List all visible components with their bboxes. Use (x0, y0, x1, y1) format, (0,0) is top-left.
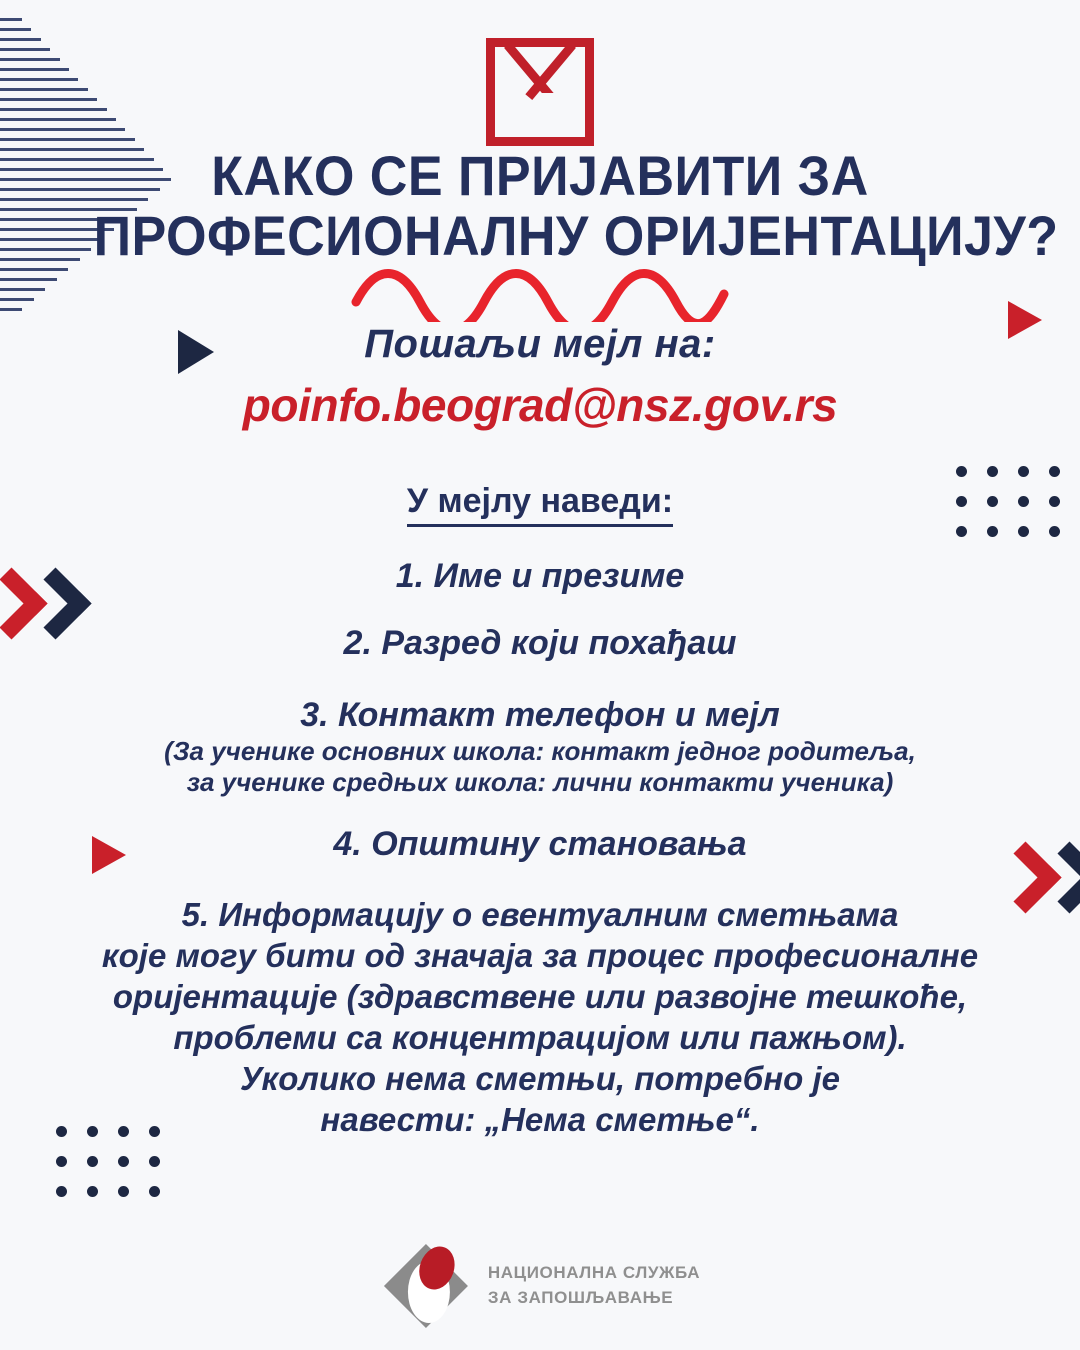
list-item-2: 2. Разред који похађаш (40, 623, 1040, 664)
envelope-icon-wrapper (0, 38, 1080, 124)
send-mail-prompt: Пошаљи мејл на: (0, 322, 1080, 367)
dot (56, 1126, 67, 1137)
nsz-logo-mark (380, 1240, 472, 1332)
list-item-5-line-5: Уколико нема сметњи, потребно је (40, 1059, 1040, 1100)
dot (956, 526, 967, 537)
list-item-3: 3. Контакт телефон и мејл (За ученике ос… (40, 695, 1040, 798)
title-line-2: ПРОФЕСИОНАЛНУ ОРИЈЕНТАЦИЈУ? (94, 206, 987, 266)
list-item-5-line-6: навести: „Нема сметње“. (40, 1100, 1040, 1141)
list-item-4-text: 4. Општину становања (40, 824, 1040, 865)
navy-play-triangle-icon (178, 330, 214, 374)
dot (1018, 526, 1029, 537)
stripe-line (0, 268, 68, 271)
nsz-logo-text: НАЦИОНАЛНА СЛУЖБА ЗА ЗАПОШЉАВАЊЕ (488, 1261, 700, 1310)
list-heading: У мејлу наведи: (0, 482, 1080, 521)
dot (87, 1156, 98, 1167)
stripe-line (0, 258, 80, 261)
red-play-triangle-icon-left (92, 836, 126, 874)
stripe-line (0, 18, 22, 21)
dot (56, 1156, 67, 1167)
list-item-4: 4. Општину становања (40, 824, 1040, 865)
dot (118, 1126, 129, 1137)
list-item-5-line-2: које могу бити од значаја за процес проф… (40, 936, 1040, 977)
list-item-5-line-3: оријентације (здравствене или развојне т… (40, 977, 1040, 1018)
dot (1018, 466, 1029, 477)
dot (149, 1126, 160, 1137)
dot (118, 1156, 129, 1167)
list-item-5-line-4: проблеми са концентрацијом или пажњом). (40, 1018, 1040, 1059)
dot (87, 1186, 98, 1197)
poster-root: КАКО СЕ ПРИЈАВИТИ ЗА ПРОФЕСИОНАЛНУ ОРИЈЕ… (0, 0, 1080, 1350)
red-wavy-underline (350, 268, 730, 322)
email-address[interactable]: poinfo.beograd@nsz.gov.rs (0, 378, 1080, 432)
chevron-right-icon (1033, 841, 1080, 913)
list-heading-text: У мејлу наведи: (407, 482, 673, 527)
dot (149, 1186, 160, 1197)
dot (956, 496, 967, 507)
list-item-5: 5. Информацију о евентуалним сметњама ко… (40, 895, 1040, 1140)
envelope-body (486, 93, 594, 146)
stripe-line (0, 278, 57, 281)
dot (956, 466, 967, 477)
red-play-triangle-icon-right (1008, 301, 1042, 339)
title-line-1: КАКО СЕ ПРИЈАВИТИ ЗА (94, 146, 987, 206)
list-item-1-text: 1. Име и презиме (40, 556, 1040, 597)
envelope-icon (486, 38, 594, 124)
list-item-3-sub-line-2: за ученике средњих школа: лични контакти… (40, 767, 1040, 798)
dot (987, 526, 998, 537)
dot (987, 496, 998, 507)
stripe-line (0, 308, 22, 311)
list-item-5-line-1: 5. Информацију о евентуалним сметњама (40, 895, 1040, 936)
stripe-line (0, 288, 45, 291)
dot (987, 466, 998, 477)
dot (1049, 466, 1060, 477)
page-title: КАКО СЕ ПРИЈАВИТИ ЗА ПРОФЕСИОНАЛНУ ОРИЈЕ… (94, 146, 987, 267)
instruction-list: 1. Име и презиме 2. Разред који похађаш … (40, 556, 1040, 1141)
list-item-3-text: 3. Контакт телефон и мејл (40, 695, 1040, 736)
dot (56, 1186, 67, 1197)
stripe-line (0, 128, 125, 131)
nsz-logo-line-1: НАЦИОНАЛНА СЛУЖБА (488, 1261, 700, 1286)
stripe-line (0, 28, 31, 31)
dot (149, 1156, 160, 1167)
stripe-line (0, 298, 34, 301)
stripe-line (0, 248, 91, 251)
list-item-3-sub-line-1: (За ученике основних школа: контакт једн… (40, 736, 1040, 767)
dot (118, 1186, 129, 1197)
list-item-1: 1. Име и презиме (40, 556, 1040, 597)
stripe-line (0, 138, 135, 141)
dot (1018, 496, 1029, 507)
nsz-logo: НАЦИОНАЛНА СЛУЖБА ЗА ЗАПОШЉАВАЊЕ (380, 1240, 700, 1332)
dot (1049, 496, 1060, 507)
nsz-logo-line-2: ЗА ЗАПОШЉАВАЊЕ (488, 1286, 700, 1311)
dot (1049, 526, 1060, 537)
dot (87, 1126, 98, 1137)
stripe-line (0, 238, 103, 241)
list-item-2-text: 2. Разред који похађаш (40, 623, 1040, 664)
